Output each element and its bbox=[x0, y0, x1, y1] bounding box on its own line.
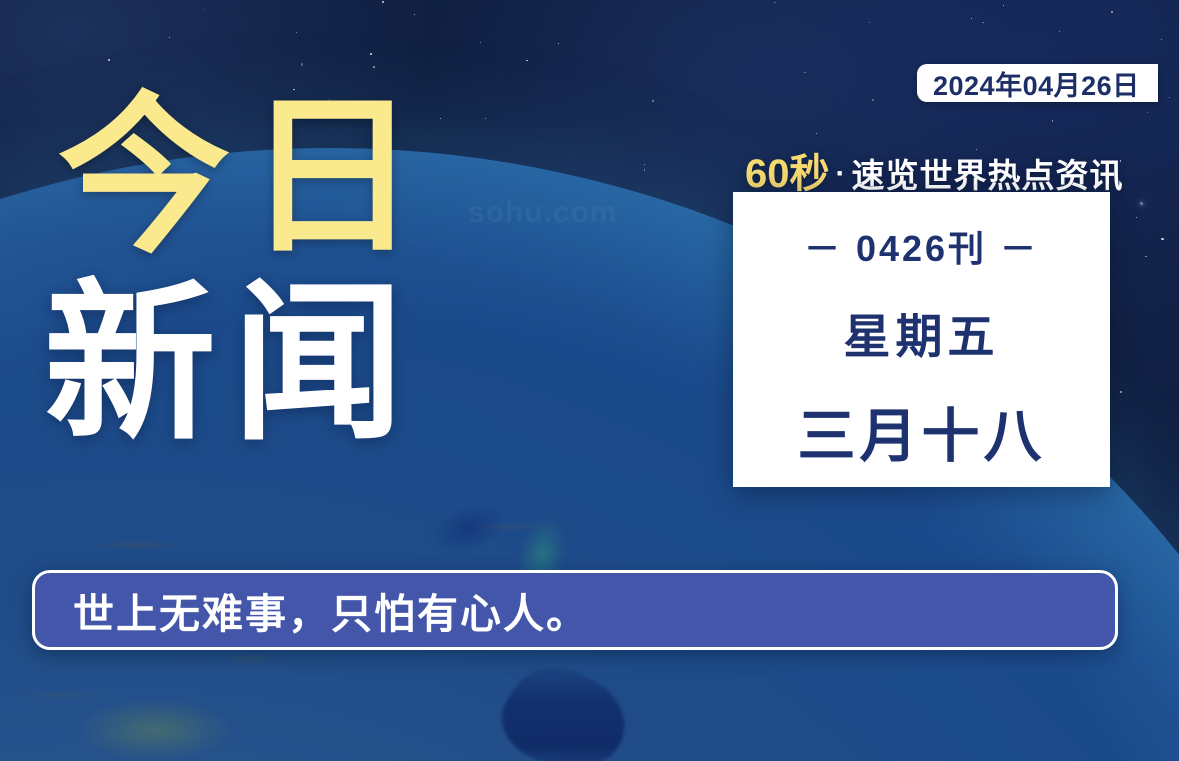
tagline-separator-dot: · bbox=[830, 157, 852, 191]
news-poster: sohu.com 今日 新闻 2024年04月26日 60秒 · 速览世界热点资… bbox=[0, 0, 1179, 761]
date-badge: 2024年04月26日 bbox=[917, 64, 1158, 102]
issue-info-card: － 0426刊 － 星期五 三月十八 bbox=[733, 192, 1110, 487]
lunar-date-label: 三月十八 bbox=[797, 389, 1045, 473]
page-title: 今日 新闻 bbox=[58, 96, 434, 447]
date-badge-label: 2024年04月26日 bbox=[933, 64, 1140, 103]
earth-vegetation-patch bbox=[80, 700, 230, 760]
tagline-duration: 60秒 bbox=[745, 141, 830, 199]
page-title-line-2: 新闻 bbox=[44, 283, 434, 446]
tagline-description: 速览世界热点资讯 bbox=[852, 149, 1124, 197]
tagline: 60秒 · 速览世界热点资讯 bbox=[745, 141, 1124, 199]
issue-number-label: － 0426刊 － bbox=[804, 220, 1039, 272]
quote-banner: 世上无难事，只怕有心人。 bbox=[32, 570, 1118, 650]
page-title-line-1: 今日 bbox=[58, 96, 434, 259]
weekday-label: 星期五 bbox=[844, 298, 1000, 367]
quote-text: 世上无难事，只怕有心人。 bbox=[73, 580, 589, 640]
